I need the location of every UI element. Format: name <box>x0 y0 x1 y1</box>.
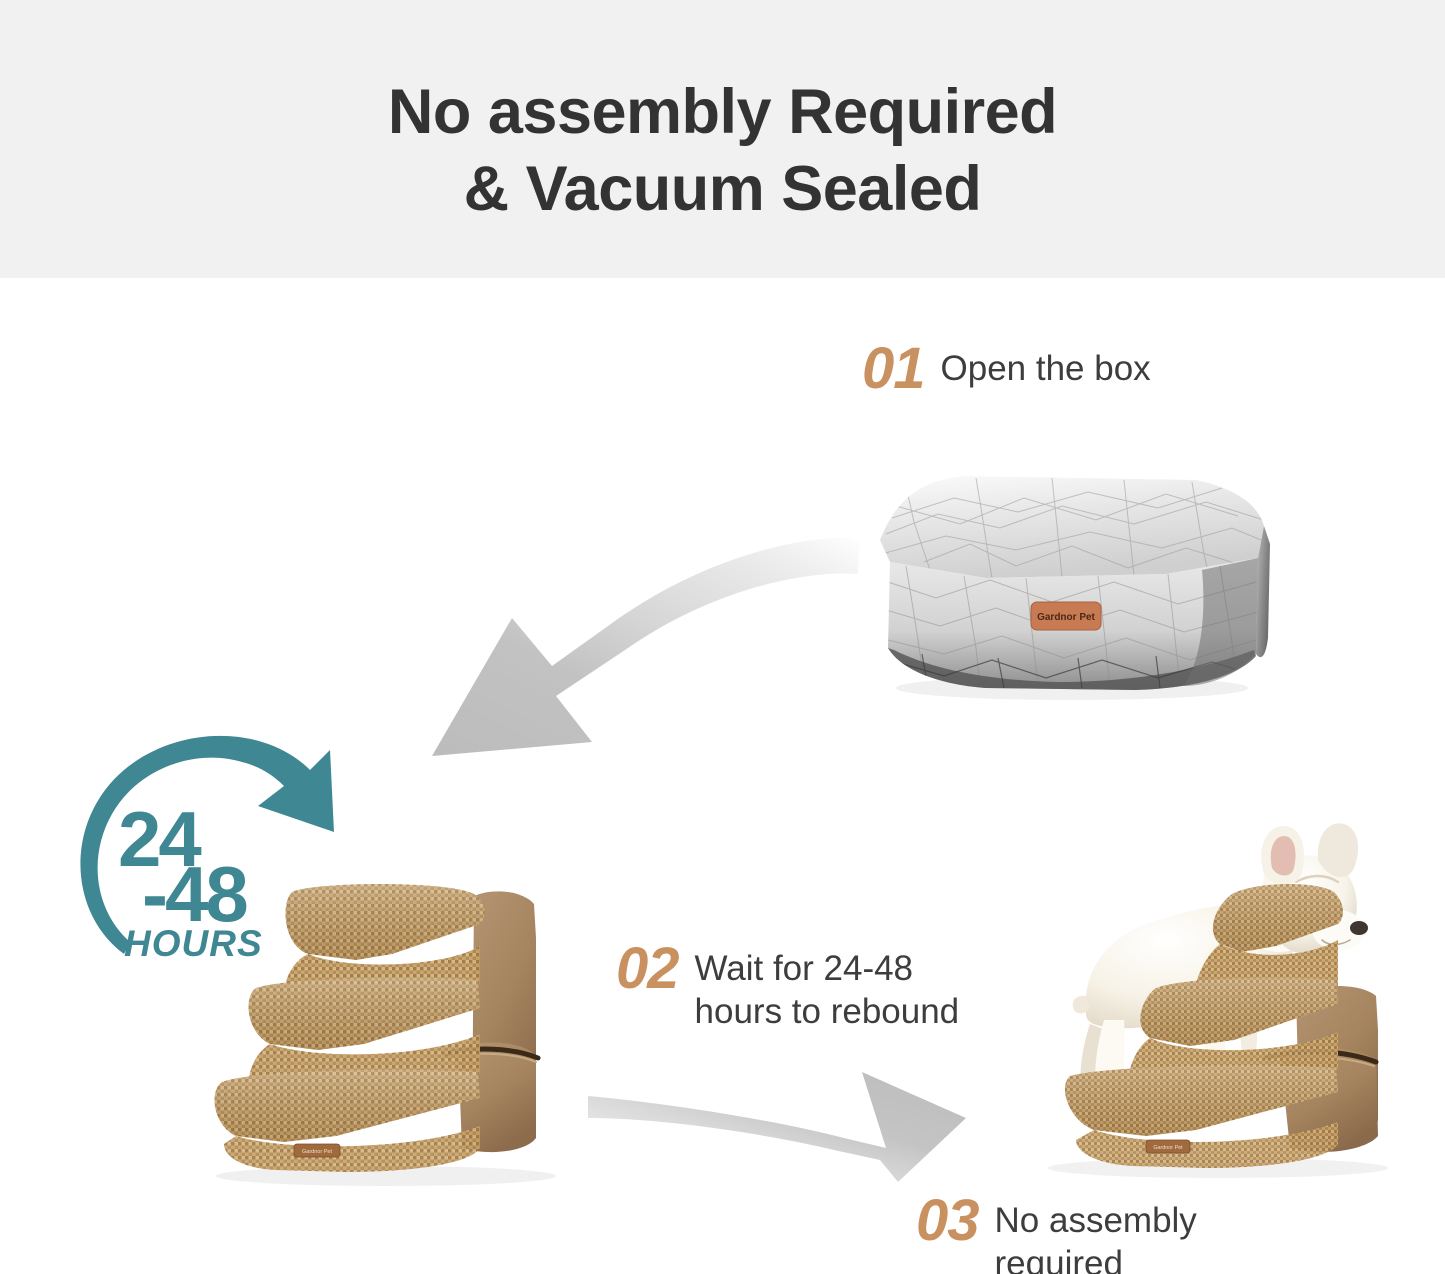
vacuum-sealed-package: Gardnor Pet <box>866 462 1272 697</box>
arrow-1-shape <box>432 538 860 756</box>
arrow-box-to-badge <box>392 498 862 788</box>
page-title: No assembly Required & Vacuum Sealed <box>0 74 1445 228</box>
stairs-dog-svg: Gardnor Pet <box>1028 818 1414 1180</box>
package-brand-text: Gardnor Pet <box>1037 612 1095 623</box>
stairs-brand-tag-text: Gardnor Pet <box>302 1149 332 1155</box>
stairs-shade-3 <box>285 884 484 960</box>
step-02-number: 02 <box>616 940 679 998</box>
step-01-number: 01 <box>862 340 925 398</box>
arrow-1-svg <box>392 498 862 788</box>
stairs-shade-2 <box>248 978 480 1050</box>
stairs-dog-brand-tag: Gardnor Pet <box>1146 1140 1190 1153</box>
arrow-2-shape <box>588 1072 966 1182</box>
stairs-brand-tag: Gardnor Pet <box>294 1144 340 1157</box>
step-03-text: No assembly required <box>995 1192 1197 1274</box>
dog-ear-near-inner <box>1271 836 1296 876</box>
stairs-shade-1 <box>214 1070 480 1142</box>
step-01-text: Open the box <box>941 340 1151 391</box>
step-03-label: 03 No assembly required <box>916 1192 1197 1274</box>
stairs-left-svg: Gardnor Pet <box>196 876 596 1188</box>
step-02-label: 02 Wait for 24-48 hours to rebound <box>616 940 959 1033</box>
infographic-canvas: No assembly Required & Vacuum Sealed 01 … <box>0 0 1445 1274</box>
pet-stairs-with-dog: Gardnor Pet <box>1028 818 1414 1180</box>
package-brand-label: Gardnor Pet <box>1031 602 1101 630</box>
step-01-label: 01 Open the box <box>862 340 1151 398</box>
step-03-number: 03 <box>916 1192 979 1250</box>
pet-stairs-product: Gardnor Pet <box>196 876 596 1188</box>
package-illustration: Gardnor Pet <box>866 462 1272 697</box>
stairs-dog-brand-tag-text: Gardnor Pet <box>1153 1145 1183 1151</box>
dog-nose <box>1350 921 1368 935</box>
step-02-text: Wait for 24-48 hours to rebound <box>695 940 960 1033</box>
